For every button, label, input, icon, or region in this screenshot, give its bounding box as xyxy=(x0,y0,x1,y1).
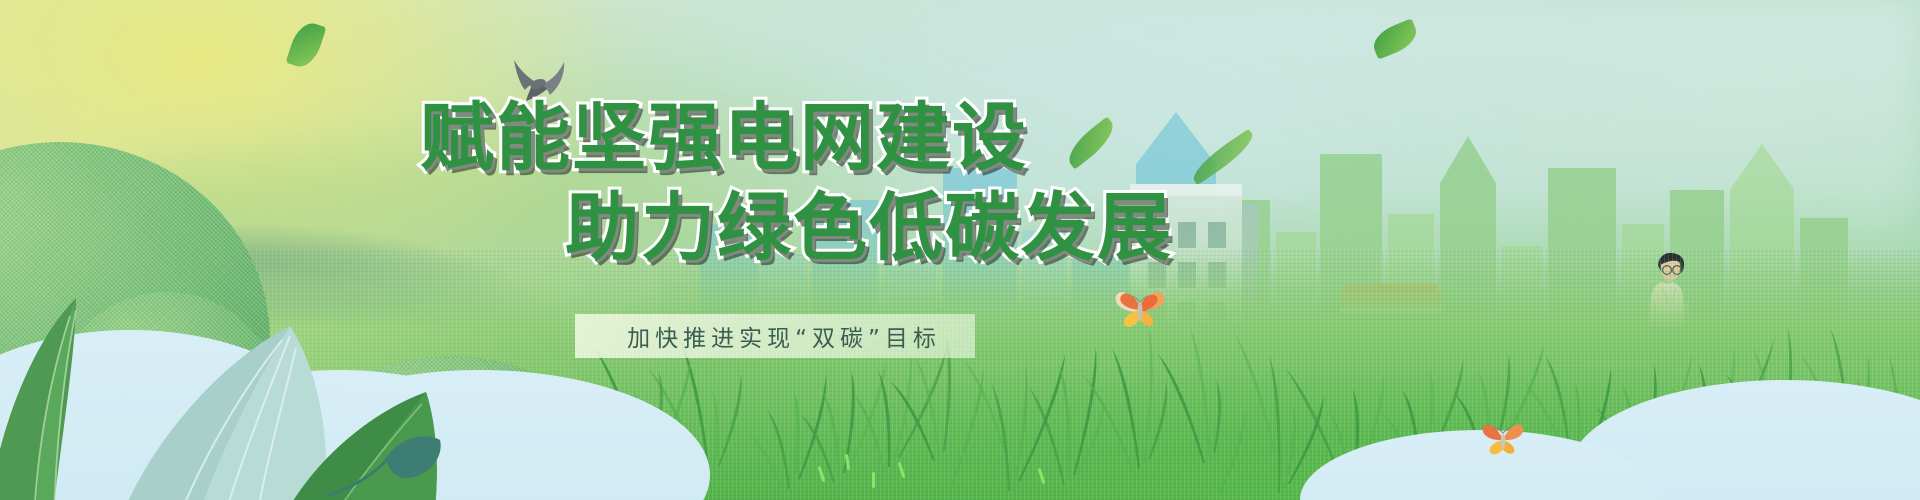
subtitle-text: 加快推进实现“双碳”目标 xyxy=(604,316,964,356)
headline-line-2: 助力绿色低碳发展 xyxy=(565,168,1173,275)
eco-power-grid-banner: 赋能坚强电网建设 助力绿色低碳发展 加快推进实现“双碳”目标 xyxy=(0,0,1920,500)
banner-copy: 赋能坚强电网建设 助力绿色低碳发展 加快推进实现“双碳”目标 xyxy=(0,0,1920,500)
